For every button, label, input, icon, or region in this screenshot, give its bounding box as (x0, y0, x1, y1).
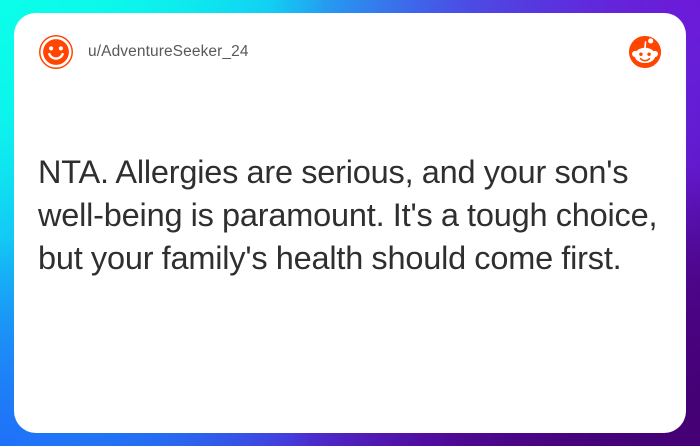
reddit-comment-card: u/AdventureSeeker_24 NTA. Allergies are … (14, 13, 686, 433)
reddit-snoo-logo-icon[interactable] (628, 35, 662, 69)
comment-text: NTA. Allergies are serious, and your son… (38, 151, 662, 280)
comment-body: NTA. Allergies are serious, and your son… (38, 151, 662, 280)
screenshot-root: u/AdventureSeeker_24 NTA. Allergies are … (0, 0, 700, 446)
comment-header: u/AdventureSeeker_24 (14, 13, 686, 91)
smiley-face-avatar-icon[interactable] (38, 34, 74, 70)
username-label: u/AdventureSeeker_24 (88, 43, 249, 61)
